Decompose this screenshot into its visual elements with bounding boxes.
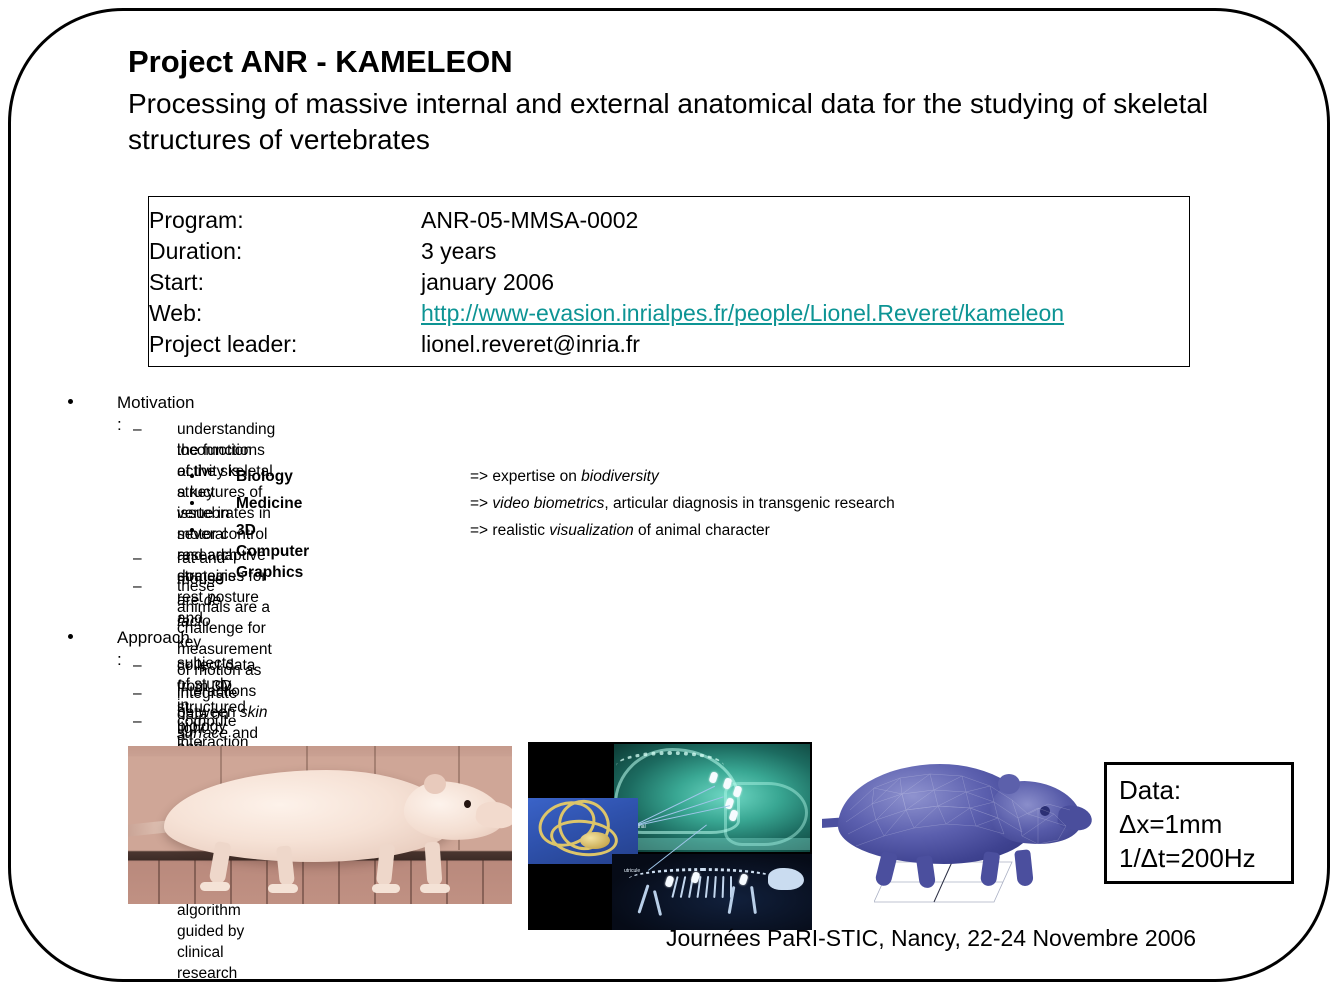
bullet-dot-icon: [190, 474, 194, 478]
bullet-domain-3d-computer-graphics-desc: => realistic visualization of animal cha…: [470, 520, 770, 541]
table-row: Program: ANR-05-MMSA-0002: [149, 205, 1189, 236]
skeleton-skull: [768, 868, 804, 890]
table-row: Start: january 2006: [149, 267, 1189, 298]
data-box-line-1: Data:: [1119, 773, 1291, 807]
otolith-organ: [580, 832, 610, 849]
mesh-wireframe-overlay: [822, 748, 1098, 920]
info-value-start: january 2006: [421, 267, 1189, 298]
page-subtitle: Processing of massive internal and exter…: [128, 86, 1268, 158]
table-row: Duration: 3 years: [149, 236, 1189, 267]
skeleton-panel: [612, 854, 812, 930]
bullet-dash-icon: –: [133, 683, 142, 704]
bullet-dash-icon: –: [133, 655, 142, 676]
bullet-domain-medicine-name: Medicine: [236, 493, 302, 514]
info-label-program: Program:: [149, 205, 421, 236]
bullet-dash-icon: –: [133, 419, 142, 440]
figure-xray-skeleton-composite: hor. canal utricule: [528, 742, 812, 930]
info-value-duration: 3 years: [421, 236, 1189, 267]
info-label-web: Web:: [149, 298, 421, 329]
bullet-domain-3d-computer-graphics-name: 3D Computer Graphics: [236, 520, 309, 583]
bullet-domain-biology-desc: => expertise on biodiversity: [470, 466, 659, 487]
slide-footer: Journées PaRI-STIC, Nancy, 22-24 Novembr…: [666, 925, 1196, 952]
bullet-domain-medicine-desc: => video biometrics, articular diagnosis…: [470, 493, 895, 514]
bullet-dot-icon: [190, 528, 194, 532]
data-box-line-2: Δx=1mm: [1119, 807, 1291, 841]
page-title: Project ANR - KAMELEON: [128, 42, 1268, 82]
info-value-project-leader: lionel.reveret@inria.fr: [421, 329, 1189, 360]
info-value-web: http://www-evasion.inrialpes.fr/people/L…: [421, 298, 1189, 329]
info-label-start: Start:: [149, 267, 421, 298]
info-value-program: ANR-05-MMSA-0002: [421, 205, 1189, 236]
rat-eye: [464, 800, 471, 808]
bullet-dot-icon: [190, 501, 194, 505]
info-label-duration: Duration:: [149, 236, 421, 267]
xray-floor: [614, 838, 810, 850]
title-block: Project ANR - KAMELEON Processing of mas…: [128, 42, 1268, 158]
data-box-line-3: 1/Δt=200Hz: [1119, 841, 1291, 875]
bullet-dash-icon: –: [133, 576, 142, 597]
bullet-dash-icon: –: [133, 711, 142, 732]
table-row: Project leader: lionel.reveret@inria.fr: [149, 329, 1189, 360]
figure-rat-treadmill-photo: [128, 746, 512, 904]
rat-ear: [424, 774, 446, 794]
table-row: Web: http://www-evasion.inrialpes.fr/peo…: [149, 298, 1189, 329]
info-label-project-leader: Project leader:: [149, 329, 421, 360]
bullet-domain-biology-name: Biology: [236, 466, 293, 487]
bullet-dot-icon: [68, 634, 73, 639]
figure-3d-mesh-rat: [822, 748, 1098, 920]
project-web-link[interactable]: http://www-evasion.inrialpes.fr/people/L…: [421, 300, 1064, 326]
xray-annotation-utricule: utricule: [624, 868, 640, 874]
data-parameters-box: Data: Δx=1mm 1/Δt=200Hz: [1104, 762, 1294, 884]
xray-spine: [616, 751, 724, 781]
bullet-dot-icon: [68, 399, 73, 404]
bullet-dash-icon: –: [133, 548, 142, 569]
project-info-table: Program: ANR-05-MMSA-0002 Duration: 3 ye…: [148, 196, 1190, 367]
